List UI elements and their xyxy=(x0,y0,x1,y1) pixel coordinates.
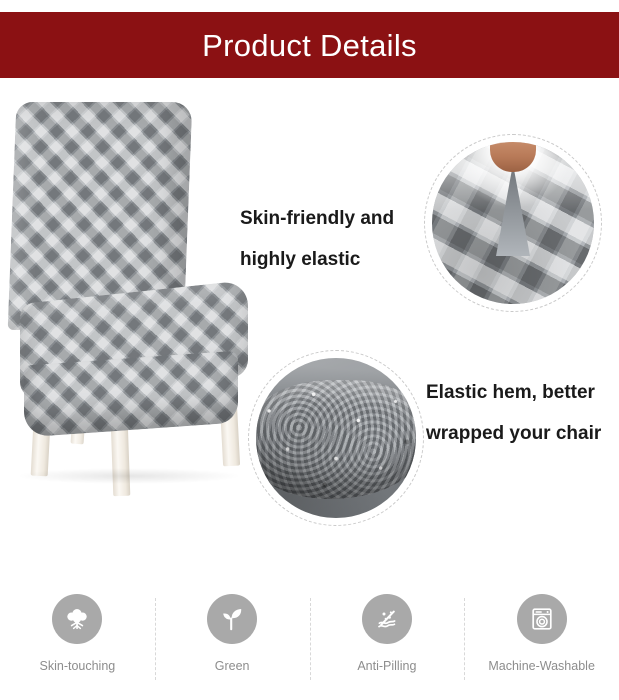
caption-elastic-hem-line-1: Elastic hem, better xyxy=(426,383,601,402)
detail-photo-woven-fabric xyxy=(424,134,602,312)
anti-pilling-icon xyxy=(362,594,412,644)
cotton-boll-icon xyxy=(52,594,102,644)
product-detail-stage: Skin-friendly and highly elastic Elastic… xyxy=(0,78,619,578)
detail-photo-elastic-hem xyxy=(248,350,424,526)
elastic-hem-texture xyxy=(256,358,416,518)
feature-label-green: Green xyxy=(215,659,250,673)
woven-fabric-texture xyxy=(432,142,594,304)
sprout-leaf-icon xyxy=(207,594,257,644)
hand-finger xyxy=(490,142,536,172)
pinched-fabric-peak xyxy=(496,164,530,256)
chair-floor-shadow xyxy=(16,468,242,484)
feature-anti-pilling: Anti-Pilling xyxy=(310,594,465,690)
chair-product-photo xyxy=(4,96,256,496)
feature-machine-washable: Machine-Washable xyxy=(464,594,619,690)
caption-skin-friendly-line-1: Skin-friendly and xyxy=(240,209,394,228)
detail-photo-woven-fabric-inner xyxy=(432,142,594,304)
washing-machine-icon xyxy=(517,594,567,644)
feature-green: Green xyxy=(155,594,310,690)
caption-skin-friendly-line-2: highly elastic xyxy=(240,250,394,269)
page-title: Product Details xyxy=(202,30,417,61)
detail-photo-elastic-hem-inner xyxy=(256,358,416,518)
slipcover-skirt xyxy=(24,351,238,438)
feature-label-machine-washable: Machine-Washable xyxy=(488,659,595,673)
feature-skin-touching: Skin-touching xyxy=(0,594,155,690)
caption-elastic-hem-line-2: wrapped your chair xyxy=(426,424,601,443)
feature-badge-row: Skin-touching Green xyxy=(0,594,619,690)
page-header-banner: Product Details xyxy=(0,12,619,78)
feature-label-anti-pilling: Anti-Pilling xyxy=(357,659,416,673)
feature-label-skin-touching: Skin-touching xyxy=(40,659,116,673)
caption-elastic-hem: Elastic hem, better wrapped your chair xyxy=(426,383,601,443)
caption-skin-friendly: Skin-friendly and highly elastic xyxy=(240,209,394,269)
